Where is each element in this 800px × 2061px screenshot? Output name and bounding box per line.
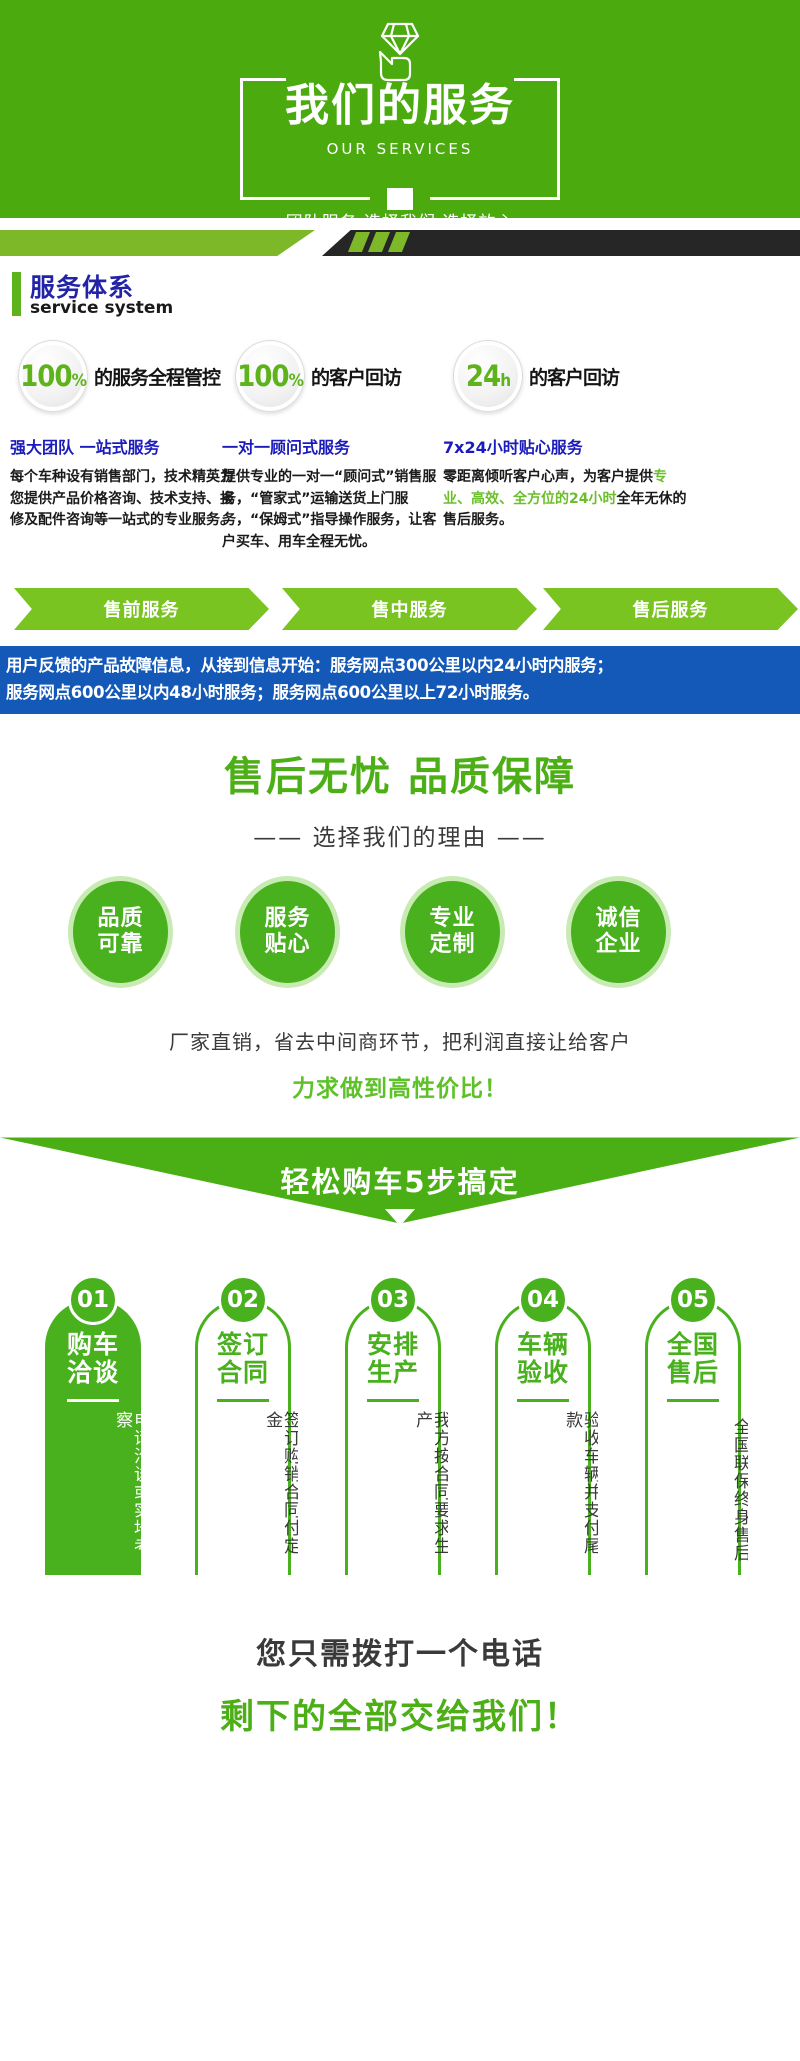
decorative-band [0,218,800,270]
step-title: 安排生产 [338,1331,448,1386]
notice-bar: 用户反馈的产品故障信息，从接到信息开始：服务网点300公里以内24小时内服务； … [0,646,800,714]
step-card: 01 购车洽谈 电话洽谈或实地考察 [38,1275,148,1575]
step-divider [367,1399,419,1402]
step-number: 01 [68,1275,118,1325]
column-body-highlight: 24小时 [569,491,616,507]
guarantee-badge: 诚信企业 [566,876,671,988]
notice-line-1: 用户反馈的产品故障信息，从接到信息开始：服务网点300公里以内24小时内服务； [6,652,794,679]
column-body: 每个车种设有销售部门，技术精英为您提供产品价格咨询、技术支持、报修及配件咨询等一… [10,467,238,532]
guarantee-section-header: 售后无忧 品质保障 —— 选择我们的理由 —— [0,744,800,852]
badge-item: 100% 的服务全程管控 [18,340,220,412]
guarantee-subtitle: —— 选择我们的理由 —— [0,818,800,852]
service-column: 一对一顾问式服务 提供专业的一对一“顾问式”销售服务，“管家式”运输送货上门服务… [222,434,450,554]
frame-bottom-tab [387,188,413,210]
hero-title-frame: 我们的服务 OUR SERVICES [240,78,560,200]
guarantee-badges: 品质可靠 服务贴心 专业定制 诚信企业 [0,876,800,996]
badge-row: 100% 的服务全程管控 100% 的客户回访 24h 的客户回访 [0,340,800,424]
badge-item: 100% 的客户回访 [235,340,401,412]
step-card: 04 车辆验收 验收车辆并支付尾款 [488,1275,598,1575]
badge-number: 100% [237,359,303,393]
step-card: 02 签订合同 签订购销合同付定金 [188,1275,298,1575]
footer-cta: 您只需拨打一个电话 剩下的全部交给我们！ [0,1629,800,1738]
step-description: 签订购销合同付定金 [188,1411,298,1569]
step-title: 全国售后 [638,1331,748,1386]
column-body: 零距离倾听客户心声，为客户提供专业、高效、全方位的24小时全年无休的售后服务。 [443,467,693,532]
column-title: 7x24小时贴心服务 [443,434,693,458]
notice-line-2: 服务网点600公里以内48小时服务；服务网点600公里以上72小时服务。 [6,679,794,706]
step-title: 签订合同 [188,1331,298,1386]
column-title: 强大团队 一站式服务 [10,434,238,458]
step-card: 03 安排生产 我方按合同要求生产 [338,1275,448,1575]
direct-sales-line-2: 力求做到高性价比！ [0,1069,800,1103]
service-columns: 强大团队 一站式服务 每个车种设有销售部门，技术精英为您提供产品价格咨询、技术支… [0,434,800,574]
badge-label: 的客户回访 [311,363,401,390]
arrow-during-sale: 售中服务 [282,588,537,630]
arrow-row: 售前服务 售中服务 售后服务 [0,588,800,632]
badge-label: 的客户回访 [529,363,619,390]
badge-number: 24h [466,359,510,393]
service-system-heading: 服务体系 service system [0,270,800,326]
direct-sales-note: 厂家直销，省去中间商环节，把利润直接让给客户 力求做到高性价比！ [0,1026,800,1103]
guarantee-badge: 品质可靠 [68,876,173,988]
guarantee-title: 售后无忧 品质保障 [0,744,800,802]
frame-edge-bottom-right [430,197,560,200]
guarantee-badge-text: 诚信企业 [595,906,641,960]
step-card: 05 全国售后 全国联保终身售后 [638,1275,748,1575]
step-number: 04 [518,1275,568,1325]
guarantee-badge: 服务贴心 [235,876,340,988]
steps-banner-title: 轻松购车5步搞定 [0,1159,800,1201]
guarantee-badge: 专业定制 [400,876,505,988]
hours-circle-icon: 24h [453,340,523,412]
guarantee-badge-text: 专业定制 [429,906,475,960]
step-number: 05 [668,1275,718,1325]
column-body: 提供专业的一对一“顾问式”销售服务，“管家式”运输送货上门服务，“保姆式”指导操… [222,467,450,554]
step-divider [217,1399,269,1402]
hero-banner: 我们的服务 OUR SERVICES ——团队服务 选择我们 选择放心—— [0,0,800,218]
hero-subtitle: OUR SERVICES [240,140,560,158]
step-title: 车辆验收 [488,1331,598,1386]
percent-circle-icon: 100% [18,340,88,412]
step-description: 电话洽谈或实地考察 [38,1411,148,1569]
step-title: 购车洽谈 [38,1331,148,1386]
purchase-steps: 01 购车洽谈 电话洽谈或实地考察 02 签订合同 签订购销合同付定金 03 安… [0,1275,800,1595]
arrow-pre-sale: 售前服务 [14,588,269,630]
column-title: 一对一顾问式服务 [222,434,450,458]
direct-sales-line-1: 厂家直销，省去中间商环节，把利润直接让给客户 [0,1026,800,1055]
service-column: 7x24小时贴心服务 零距离倾听客户心声，为客户提供专业、高效、全方位的24小时… [443,434,693,532]
step-number: 02 [218,1275,268,1325]
service-system-title-en: service system [30,298,173,318]
guarantee-badge-text: 服务贴心 [264,906,310,960]
step-divider [667,1399,719,1402]
footer-line-1: 您只需拨打一个电话 [0,1629,800,1673]
step-description: 验收车辆并支付尾款 [488,1411,598,1569]
column-body-text: 零距离倾听客户心声，为客户提供 [443,469,653,485]
step-divider [67,1399,119,1402]
badge-label: 的服务全程管控 [94,363,220,390]
badge-number: 100% [20,359,86,393]
percent-circle-icon: 100% [235,340,305,412]
down-triangle-icon [385,1209,415,1226]
footer-line-2: 剩下的全部交给我们！ [0,1689,800,1738]
band-green-shape [0,230,315,256]
step-divider [517,1399,569,1402]
heading-accent-bar [12,272,21,316]
frame-edge-bottom-left [240,197,370,200]
badge-item: 24h 的客户回访 [453,340,619,412]
arrow-after-sale: 售后服务 [543,588,798,630]
service-column: 强大团队 一站式服务 每个车种设有销售部门，技术精英为您提供产品价格咨询、技术支… [10,434,238,532]
guarantee-badge-text: 品质可靠 [97,906,143,960]
hero-title: 我们的服务 [240,84,560,128]
step-description: 全国联保终身售后 [638,1411,748,1569]
step-number: 03 [368,1275,418,1325]
step-description: 我方按合同要求生产 [338,1411,448,1569]
steps-banner: 轻松购车5步搞定 [0,1137,800,1247]
